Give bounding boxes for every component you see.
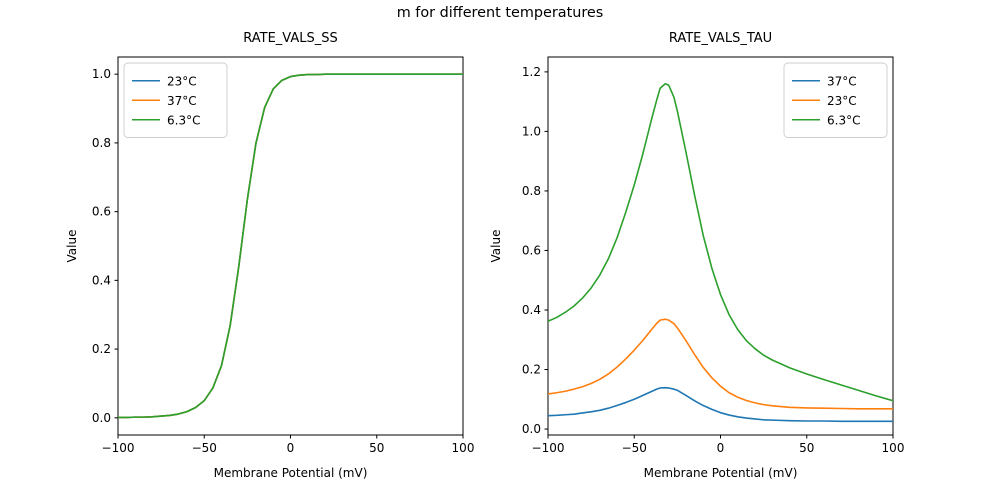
y-tick-label: 1.0 (92, 67, 111, 81)
x-tick-label: 50 (369, 441, 384, 455)
x-tick-label: 0 (287, 441, 295, 455)
legend-label: 6.3°C (827, 113, 860, 127)
legend-label: 37°C (167, 94, 197, 108)
y-tick-label: 0.0 (522, 422, 541, 436)
x-tick-label: 50 (799, 441, 814, 455)
x-tick-label: −50 (622, 441, 647, 455)
y-tick-label: 0.0 (92, 411, 111, 425)
x-tick-label: −100 (532, 441, 565, 455)
x-tick-label: 100 (452, 441, 475, 455)
axes-rate-vals-ss: −100−500501000.00.20.40.60.81.0Membrane … (65, 57, 474, 480)
matplotlib-figure: m for different temperatures RATE_VALS_S… (0, 0, 1000, 500)
plots-canvas: −100−500501000.00.20.40.60.81.0Membrane … (0, 0, 1000, 500)
y-tick-label: 1.0 (522, 124, 541, 138)
y-tick-label: 0.4 (92, 273, 111, 287)
legend-label: 6.3°C (167, 113, 200, 127)
x-tick-label: −100 (102, 441, 135, 455)
y-tick-label: 0.2 (522, 363, 541, 377)
y-tick-label: 0.2 (92, 342, 111, 356)
x-tick-label: 0 (717, 441, 725, 455)
legend: 23°C37°C6.3°C (124, 63, 227, 138)
x-axis-label: Membrane Potential (mV) (214, 466, 368, 480)
legend-label: 37°C (827, 74, 857, 88)
y-axis-label: Value (65, 230, 79, 263)
axes-rate-vals-tau: −100−500501000.00.20.40.60.81.01.2Membra… (489, 57, 904, 480)
y-tick-label: 0.8 (522, 184, 541, 198)
legend-label: 23°C (167, 74, 197, 88)
y-tick-label: 0.6 (522, 243, 541, 257)
x-tick-label: 100 (882, 441, 905, 455)
series-line-23C (548, 319, 893, 409)
y-axis-label: Value (489, 230, 503, 263)
y-tick-label: 0.6 (92, 205, 111, 219)
y-tick-label: 0.8 (92, 136, 111, 150)
series-line-37C (548, 388, 893, 422)
x-tick-label: −50 (192, 441, 217, 455)
y-tick-label: 1.2 (522, 65, 541, 79)
legend-label: 23°C (827, 94, 857, 108)
legend: 37°C23°C6.3°C (784, 63, 887, 138)
y-tick-label: 0.4 (522, 303, 541, 317)
x-axis-label: Membrane Potential (mV) (644, 466, 798, 480)
